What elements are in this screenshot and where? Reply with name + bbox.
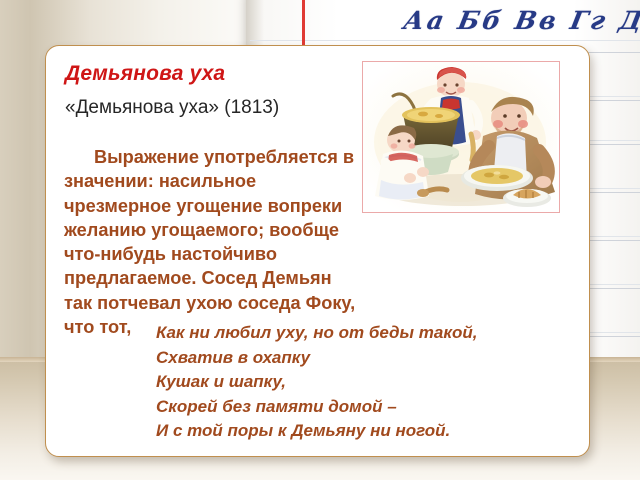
poem-text: Как ни любил уху, но от беды такой, Схва…: [156, 321, 576, 444]
illustration-frame: [362, 61, 560, 213]
slide-root: Аа Бб Вв Гг Дд Ее Жж Кк Лл Демьянова уха…: [0, 0, 640, 480]
page-subtitle: «Демьянова уха» (1813): [65, 97, 279, 119]
page-title: Демьянова уха: [65, 62, 225, 86]
illustration-watercolor: [363, 62, 557, 210]
definition-text: Выражение употребляется в значении: наси…: [64, 145, 364, 339]
calligraphy-line-1: Аа Бб Вв Гг Дд Ее: [401, 6, 640, 35]
notebook-rule: [250, 40, 640, 41]
content-card: Демьянова уха «Демьянова уха» (1813) Выр…: [45, 45, 590, 457]
